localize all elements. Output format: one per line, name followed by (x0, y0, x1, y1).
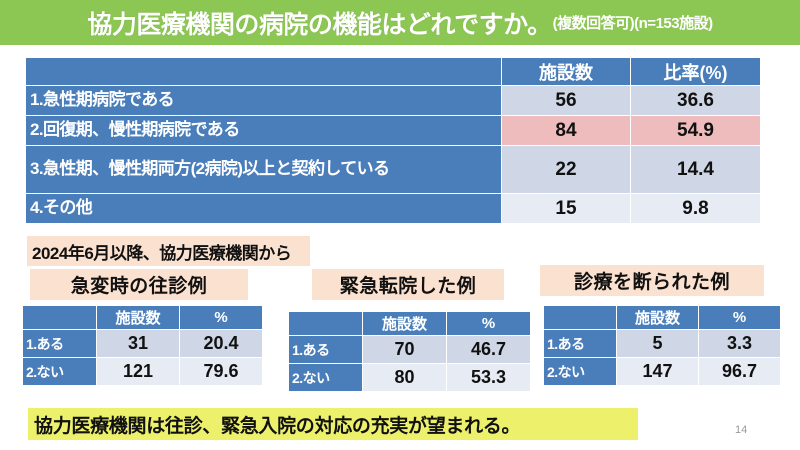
sub2-row-count: 80 (363, 364, 447, 392)
sub2-row-label: 1.ある (289, 336, 363, 364)
sub3-col-header-count: 施設数 (617, 306, 699, 330)
sub2-row-ratio: 46.7 (447, 336, 531, 364)
main-row-ratio: 9.8 (631, 194, 761, 224)
sub2-col-header-blank (289, 312, 363, 336)
table-row: 4.その他 15 9.8 (26, 194, 761, 224)
sub3-row-label: 1.ある (544, 330, 617, 358)
main-col-header-ratio: 比率(%) (631, 58, 761, 86)
sub2-col-header-ratio: % (447, 312, 531, 336)
sub-table-caption-emergency-visit: 急変時の往診例 (30, 269, 248, 300)
main-row-label: 3.急性期、慢性期両方(2病院)以上と契約している (26, 146, 502, 194)
main-results-table: 施設数 比率(%) 1.急性期病院である 56 36.6 2.回復期、慢性期病院… (25, 57, 761, 224)
sub3-col-header-blank (544, 306, 617, 330)
page-number: 14 (735, 424, 747, 436)
sub1-col-header-blank (23, 306, 97, 330)
sub-table-care-refused: 施設数 % 1.ある 5 3.3 2.ない 147 96.7 (543, 305, 781, 386)
main-row-label: 1.急性期病院である (26, 86, 502, 116)
table-row: 2.ない 80 53.3 (289, 364, 531, 392)
table-row: 1.ある 5 3.3 (544, 330, 781, 358)
sub3-row-ratio: 96.7 (699, 358, 781, 386)
conclusion-banner: 協力医療機関は往診、緊急入院の対応の充実が望まれる。 (28, 408, 638, 440)
sub3-row-count: 147 (617, 358, 699, 386)
sub-table-caption-emergency-transfer: 緊急転院した例 (312, 269, 504, 300)
main-row-count: 22 (502, 146, 631, 194)
sub1-row-label: 1.ある (23, 330, 97, 358)
main-row-count: 15 (502, 194, 631, 224)
table-row: 1.急性期病院である 56 36.6 (26, 86, 761, 116)
table-row: 3.急性期、慢性期両方(2病院)以上と契約している 22 14.4 (26, 146, 761, 194)
main-row-count: 84 (502, 116, 631, 146)
sub1-row-ratio: 79.6 (180, 358, 263, 386)
sub3-col-header-ratio: % (699, 306, 781, 330)
sub-table-emergency-visit: 施設数 % 1.ある 31 20.4 2.ない 121 79.6 (22, 305, 263, 386)
page-title: 協力医療機関の病院の機能はどれですか。 (87, 5, 551, 41)
table-header-row: 施設数 % (544, 306, 781, 330)
table-row: 1.ある 31 20.4 (23, 330, 263, 358)
sub1-row-count: 31 (97, 330, 180, 358)
sub3-row-ratio: 3.3 (699, 330, 781, 358)
sub1-row-count: 121 (97, 358, 180, 386)
sub1-row-ratio: 20.4 (180, 330, 263, 358)
sub2-row-count: 70 (363, 336, 447, 364)
main-row-count: 56 (502, 86, 631, 116)
slide-canvas: 協力医療機関の病院の機能はどれですか。 (複数回答可)(n=153施設) 施設数… (0, 0, 800, 450)
sub2-row-label: 2.ない (289, 364, 363, 392)
table-row: 2.回復期、慢性期病院である 84 54.9 (26, 116, 761, 146)
main-row-label: 2.回復期、慢性期病院である (26, 116, 502, 146)
sub3-row-label: 2.ない (544, 358, 617, 386)
main-row-ratio: 54.9 (631, 116, 761, 146)
sub2-row-ratio: 53.3 (447, 364, 531, 392)
table-row: 2.ない 121 79.6 (23, 358, 263, 386)
sub1-row-label: 2.ない (23, 358, 97, 386)
page-title-note: (複数回答可)(n=153施設) (552, 12, 713, 33)
main-row-ratio: 36.6 (631, 86, 761, 116)
sub3-row-count: 5 (617, 330, 699, 358)
sub2-col-header-count: 施設数 (363, 312, 447, 336)
table-header-row: 施設数 % (289, 312, 531, 336)
table-header-row: 施設数 比率(%) (26, 58, 761, 86)
main-col-header-blank (26, 58, 502, 86)
table-header-row: 施設数 % (23, 306, 263, 330)
conclusion-text: 協力医療機関は往診、緊急入院の対応の充実が望まれる。 (34, 411, 520, 438)
note-date-label: 2024年6月以降、協力医療機関から (27, 236, 310, 266)
main-row-label: 4.その他 (26, 194, 502, 224)
table-row: 1.ある 70 46.7 (289, 336, 531, 364)
sub-table-caption-care-refused: 診療を断られた例 (540, 265, 764, 296)
main-row-ratio: 14.4 (631, 146, 761, 194)
sub-table-emergency-transfer: 施設数 % 1.ある 70 46.7 2.ない 80 53.3 (288, 311, 531, 392)
main-col-header-count: 施設数 (502, 58, 631, 86)
sub1-col-header-ratio: % (180, 306, 263, 330)
sub1-col-header-count: 施設数 (97, 306, 180, 330)
table-row: 2.ない 147 96.7 (544, 358, 781, 386)
slide-header-bar: 協力医療機関の病院の機能はどれですか。 (複数回答可)(n=153施設) (0, 0, 800, 45)
